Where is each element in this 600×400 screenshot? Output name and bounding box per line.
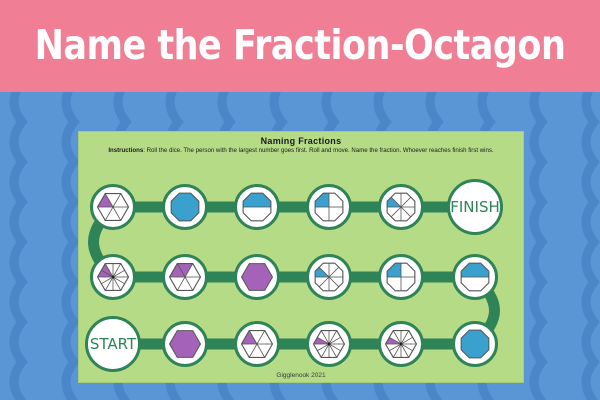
hexagon-fraction-icon (381, 324, 421, 364)
octagon-fraction-icon (455, 324, 495, 364)
finish-label: FINISH (450, 198, 500, 216)
game-board: Naming Fractions Instructions: Roll the … (78, 131, 524, 383)
board-space-r1c5-octagon-1-8[interactable] (378, 184, 424, 230)
board-space-r2c5-octagon-1-4[interactable] (378, 254, 424, 300)
hexagon-fraction-icon (165, 324, 205, 364)
board-space-r3c4-hexagon-1-12[interactable] (306, 321, 352, 367)
hexagon-fraction-icon (237, 257, 277, 297)
hexagon-fraction-icon (237, 324, 277, 364)
board-title: Naming Fractions (79, 136, 523, 146)
board-space-r1c3-octagon-1-2[interactable] (234, 184, 280, 230)
board-footer: Gigglenook 2021 (79, 372, 523, 379)
game-board-screenshot: Name the Fraction-Octagon Naming Fractio… (0, 0, 600, 400)
page-title: Name the Fraction-Octagon (35, 22, 566, 69)
finish-space[interactable]: FINISH (447, 179, 503, 235)
board-space-r2c2-hexagon-2-6[interactable] (162, 254, 208, 300)
board-space-r3c6-octagon-1-1[interactable] (452, 321, 498, 367)
octagon-fraction-icon (455, 257, 495, 297)
board-instructions: Instructions: Roll the dice. The person … (83, 147, 519, 154)
instructions-text: : Roll the dice. The person with the lar… (143, 147, 493, 154)
octagon-fraction-icon (165, 187, 205, 227)
octagon-fraction-icon (309, 187, 349, 227)
hexagon-fraction-icon (165, 257, 205, 297)
board-space-r2c6-octagon-1-2[interactable] (452, 254, 498, 300)
board-space-r3c2-hexagon-1-1[interactable] (162, 321, 208, 367)
board-space-r2c4-octagon-1-8[interactable] (306, 254, 352, 300)
start-label: START (90, 335, 136, 353)
octagon-fraction-icon (237, 187, 277, 227)
hexagon-fraction-icon (93, 257, 133, 297)
instructions-label: Instructions (108, 147, 143, 154)
start-space[interactable]: START (85, 316, 141, 372)
octagon-fraction-icon (381, 257, 421, 297)
board-space-r2c3-hexagon-1-1[interactable] (234, 254, 280, 300)
header-banner: Name the Fraction-Octagon (0, 0, 600, 92)
board-space-r3c3-hexagon-1-6[interactable] (234, 321, 280, 367)
board-space-r1c2-octagon-1-1[interactable] (162, 184, 208, 230)
hexagon-fraction-icon (309, 324, 349, 364)
octagon-fraction-icon (381, 187, 421, 227)
board-space-r1c1-hexagon-1-6[interactable] (90, 184, 136, 230)
board-space-r2c1-hexagon-2-12[interactable] (90, 254, 136, 300)
octagon-fraction-icon (309, 257, 349, 297)
board-space-r3c5-hexagon-1-12[interactable] (378, 321, 424, 367)
board-space-r1c4-octagon-1-4[interactable] (306, 184, 352, 230)
hexagon-fraction-icon (93, 187, 133, 227)
